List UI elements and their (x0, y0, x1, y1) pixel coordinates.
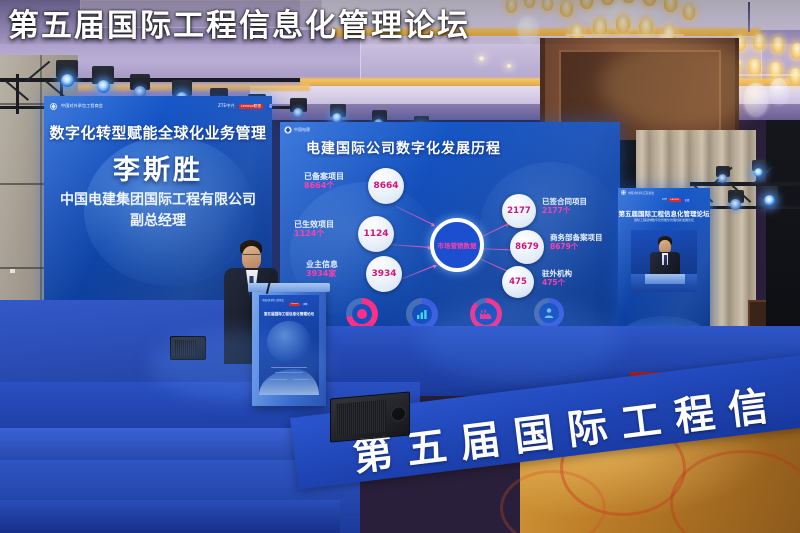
right-screen-logo-bar: 中国对外承包工程商会 (621, 190, 654, 195)
diagram-node-bubble: 1124 (358, 216, 394, 252)
diagram-label-unit: 个 (563, 206, 571, 215)
diagram-node-bubble: 2177 (502, 194, 536, 228)
stage-light-icon (716, 166, 732, 186)
bar-chart-icon (416, 308, 428, 320)
live-feed (631, 230, 697, 292)
sponsor-logo-zte: ZTE中兴 (218, 103, 235, 109)
person-icon (543, 307, 555, 319)
speaker-glasses-icon (243, 254, 260, 259)
diagram-label-unit: 个 (316, 229, 324, 238)
diagram-label-unit: 个 (558, 278, 566, 287)
diagram-label-unit: 个 (571, 242, 579, 251)
diagram-label-value: 475 (542, 278, 558, 287)
diagram-node-bubble: 8679 (510, 230, 544, 264)
diagram-hub-label: 市场营销数据 (438, 240, 477, 250)
diagram-label-right: 已签合同项目 2177个 (542, 198, 587, 215)
stat-donut-icon (534, 298, 564, 328)
powerchina-logo-icon (284, 126, 292, 134)
stage-light-icon (728, 190, 746, 214)
right-screen-header: 第五届国际工程信息化管理论坛 (618, 208, 710, 218)
page-title: 第五届国际工程信息化管理论坛 (0, 0, 470, 45)
podium: 中国对外承包工程商会 Lenovo 金蝶 第五届国际工程信息化管理论坛 (252, 288, 326, 406)
ccceg-logo-icon (621, 190, 626, 195)
diagram-label-value: 8679 (550, 242, 571, 251)
left-screen-speaker-title: 副总经理 (44, 210, 272, 230)
ccceg-logo-icon (50, 103, 57, 110)
left-screen-speaker-name: 李斯胜 (44, 148, 272, 187)
left-screen-topic: 数字化转型赋能全球化业务管理 (44, 122, 272, 143)
center-screen-brand-label: 中国电建 (294, 127, 310, 133)
right-screen-sponsor: 中国对外承包工程商会 (628, 191, 654, 195)
sponsor-logo-lenovo: Lenovo联想 (239, 104, 263, 109)
podium-top (248, 283, 330, 292)
diagram-label-right: 商务部备案项目 8679个 (550, 234, 603, 251)
diagram-node-bubble: 8664 (368, 168, 404, 204)
title-overlay-bar: 第五届国际工程信息化管理论坛 (0, 0, 800, 44)
diagram-label-text: 已生效项目 (294, 220, 334, 229)
diagram-label-text: 业主信息 (306, 260, 338, 269)
diagram-node-bubble: 3934 (366, 256, 402, 292)
podium-brand-title: 第五届国际工程信息化管理论坛 (259, 312, 319, 317)
sponsor-logo-kingdee: 金蝶 (267, 104, 272, 109)
right-screen-subheader: 国际工程领域数字化智能化管理创新发展论坛 (618, 218, 710, 222)
diagram-label-left: 已备案项目 8664个 (304, 172, 344, 190)
stage-monitor-icon (330, 392, 410, 443)
factory-icon (479, 308, 493, 320)
diagram-label-left: 业主信息 3934家 (306, 260, 338, 278)
stage-monitor-icon (170, 336, 206, 360)
ceiling-downlight (506, 64, 512, 68)
diagram-label-left: 已生效项目 1124个 (294, 220, 334, 238)
stage-light-icon (56, 60, 80, 90)
center-screen-title: 电建国际公司数字化发展历程 (306, 138, 501, 158)
diagram-label-value: 3934 (306, 269, 328, 278)
stage-light-icon (762, 186, 780, 210)
stage-light-icon (92, 66, 116, 96)
diagram-label-unit: 家 (328, 269, 336, 278)
conference-stage-photo: 中国对外承包工程商会 ZTE中兴 Lenovo联想 金蝶 数字化转型赋能全球化业… (0, 0, 800, 533)
diagram-label-value: 1124 (294, 229, 316, 238)
diagram-label-right: 驻外机构 475个 (542, 270, 572, 287)
ceiling-downlight (478, 56, 485, 61)
floor-apron (0, 500, 340, 533)
diagram-hub: 市场营销数据 (430, 218, 484, 272)
diagram-node-bubble: 475 (502, 266, 534, 298)
diagram-label-value: 2177 (542, 206, 563, 215)
left-screen-speaker-company: 中国电建集团国际工程有限公司 (44, 189, 272, 209)
sponsor-logo-ccceg: 中国对外承包工程商会 (61, 103, 103, 109)
stage-light-icon (752, 160, 768, 180)
stage-light-icon (290, 98, 310, 124)
diagram-label-unit: 个 (326, 181, 334, 190)
diagram-label-text: 已备案项目 (304, 172, 344, 181)
center-screen-brand: 中国电建 (284, 126, 310, 134)
podium-brand-panel: 中国对外承包工程商会 Lenovo 金蝶 第五届国际工程信息化管理论坛 (259, 295, 319, 395)
microphone-head (271, 272, 275, 276)
diagram-label-value: 8664 (304, 181, 326, 190)
